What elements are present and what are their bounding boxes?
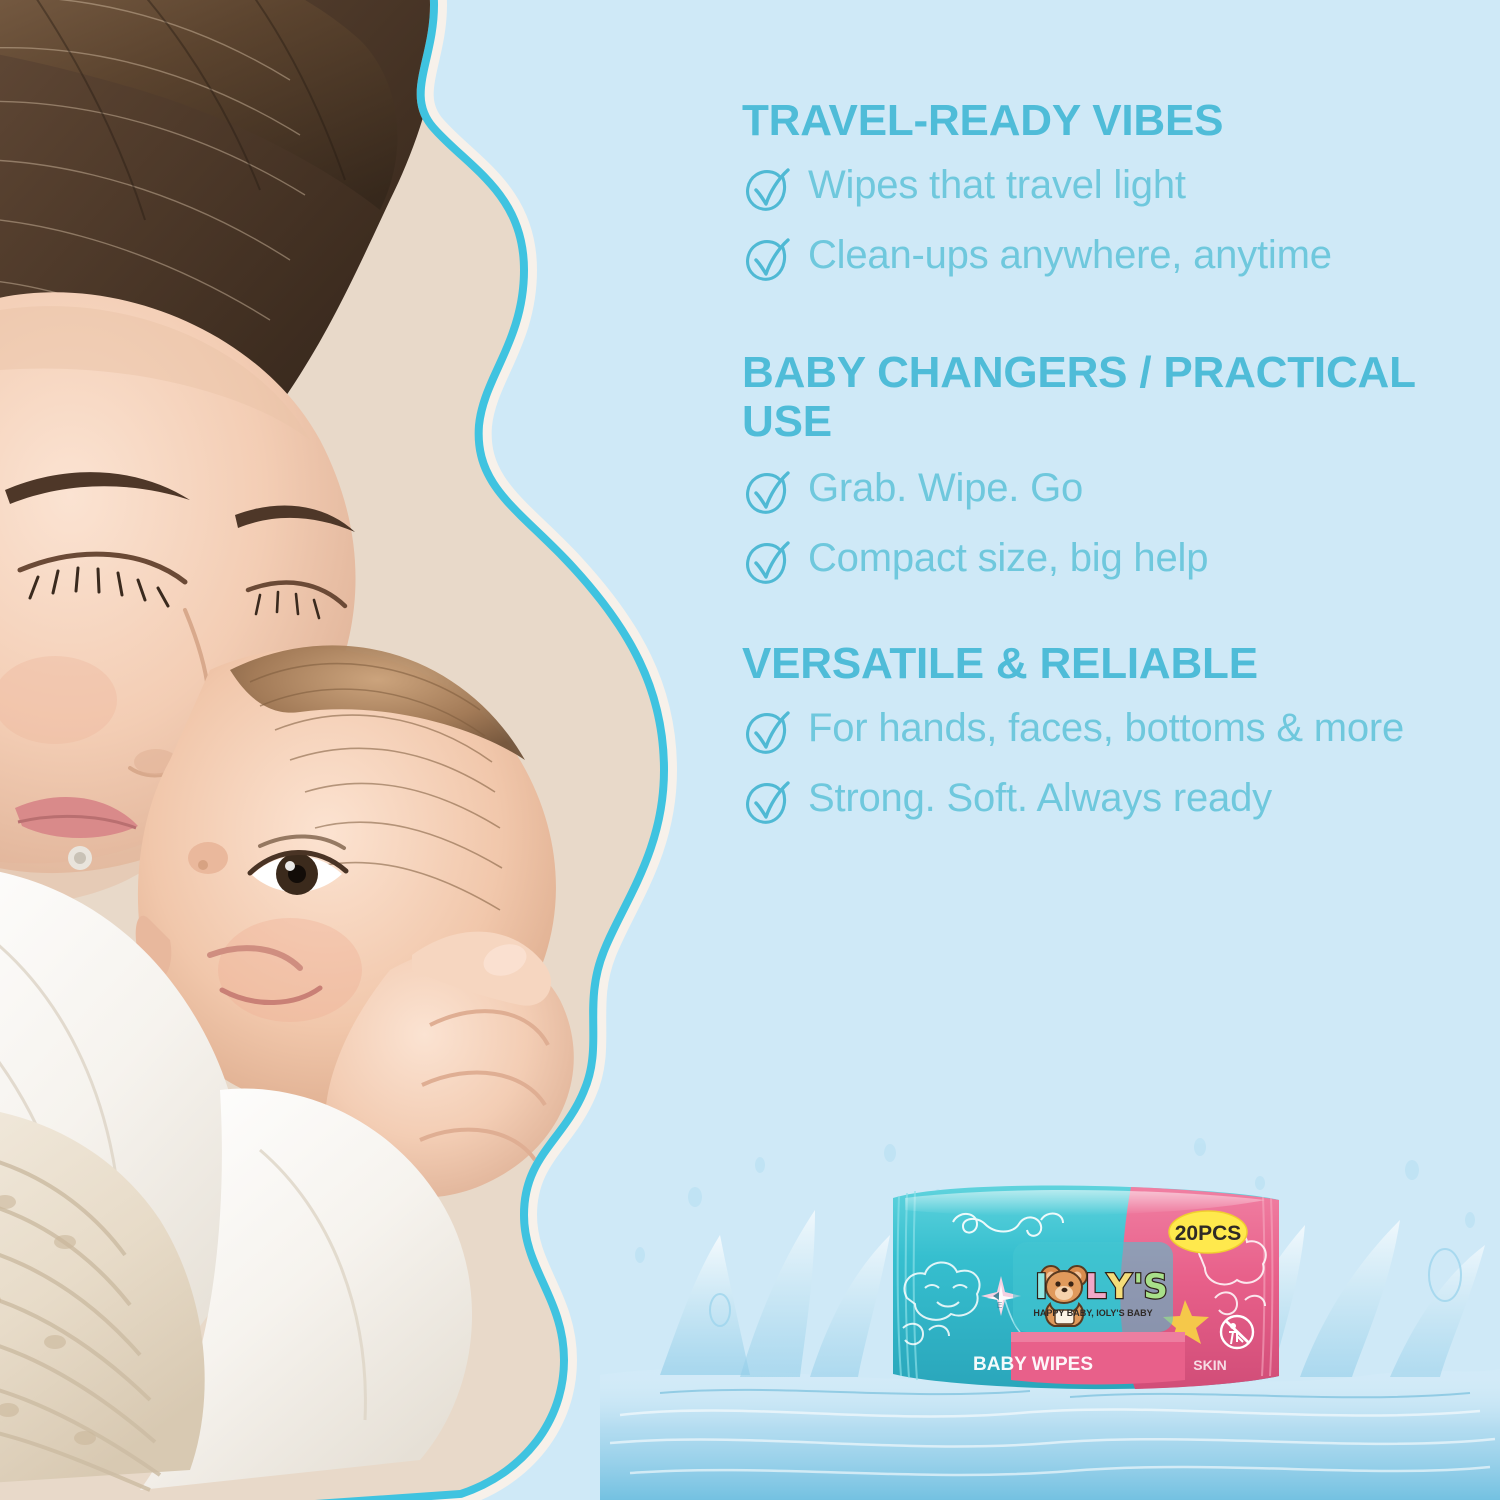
features-column: TRAVEL-READY VIBES Wipes that travel lig… xyxy=(742,96,1442,845)
feature-text: For hands, faces, bottoms & more xyxy=(808,705,1404,752)
feature-item: Clean-ups anywhere, anytime xyxy=(742,232,1442,286)
count-badge: 20PCS xyxy=(1169,1211,1247,1253)
svg-text:20PCS: 20PCS xyxy=(1175,1222,1242,1245)
product-feature-banner: TRAVEL-READY VIBES Wipes that travel lig… xyxy=(0,0,1500,1500)
feature-text: Clean-ups anywhere, anytime xyxy=(808,232,1332,279)
brand-tagline: HAPPY BABY, IOLY'S BABY xyxy=(1033,1308,1152,1318)
feature-section-versatile: VERSATILE & RELIABLE For hands, faces, b… xyxy=(742,639,1442,829)
svg-text:I: I xyxy=(1035,1267,1048,1307)
side-text: SKIN xyxy=(1193,1357,1226,1373)
feature-item: Grab. Wipe. Go xyxy=(742,465,1442,519)
feature-text: Strong. Soft. Always ready xyxy=(808,775,1272,822)
check-circle-icon xyxy=(742,537,794,589)
feature-text: Wipes that travel light xyxy=(808,162,1186,209)
svg-text:L: L xyxy=(1085,1267,1107,1307)
feature-heading: TRAVEL-READY VIBES xyxy=(742,96,1442,146)
feature-heading: VERSATILE & RELIABLE xyxy=(742,639,1442,689)
section-spacer xyxy=(742,302,1442,348)
svg-text:'S: 'S xyxy=(1133,1267,1168,1307)
section-spacer xyxy=(742,605,1442,639)
svg-text:E: E xyxy=(997,1301,1002,1310)
feature-item: Compact size, big help xyxy=(742,535,1442,589)
check-circle-icon xyxy=(742,234,794,286)
check-circle-icon xyxy=(742,707,794,759)
product-package: I L Y 'S HAPPY BABY, IOLY'S BABY 20PCS B… xyxy=(885,1180,1285,1395)
feature-item: Strong. Soft. Always ready xyxy=(742,775,1442,829)
svg-text:Y: Y xyxy=(1106,1267,1132,1307)
product-showcase: I L Y 'S HAPPY BABY, IOLY'S BABY 20PCS B… xyxy=(600,1125,1500,1500)
feature-section-changers: BABY CHANGERS / PRACTICAL USE Grab. Wipe… xyxy=(742,348,1442,589)
feature-item: For hands, faces, bottoms & more xyxy=(742,705,1442,759)
feature-section-travel: TRAVEL-READY VIBES Wipes that travel lig… xyxy=(742,96,1442,286)
feature-heading: BABY CHANGERS / PRACTICAL USE xyxy=(742,348,1442,447)
check-circle-icon xyxy=(742,777,794,829)
feature-item: Wipes that travel light xyxy=(742,162,1442,216)
check-circle-icon xyxy=(742,467,794,519)
feature-text: Compact size, big help xyxy=(808,535,1208,582)
feature-text: Grab. Wipe. Go xyxy=(808,465,1083,512)
check-circle-icon xyxy=(742,164,794,216)
front-text: BABY WIPES xyxy=(973,1354,1093,1375)
